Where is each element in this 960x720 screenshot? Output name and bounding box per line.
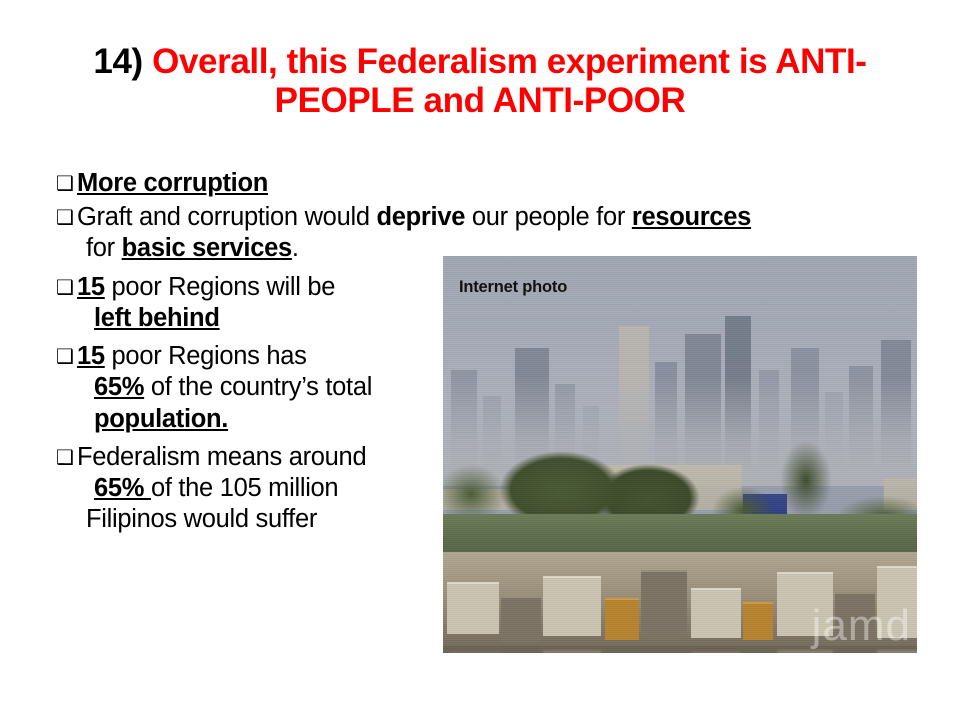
water-reflection	[543, 650, 601, 653]
bullet-text-part: for	[86, 234, 122, 262]
title-text-line2: PEOPLE and ANTI-POOR	[275, 81, 686, 120]
bullet-text-emphasis: deprive	[376, 203, 465, 231]
shanty-shack	[641, 570, 687, 636]
list-item-continuation: 65% of the 105 million	[56, 473, 456, 504]
bullet-text-part: Federalism means around	[77, 443, 366, 471]
photo-watermark: jamd	[812, 601, 911, 651]
list-item-continuation: population.	[56, 404, 456, 435]
bullet-text-emphasis: population.	[94, 405, 228, 433]
shanty-shack	[691, 588, 741, 638]
bullet-text-emphasis: 15	[77, 273, 105, 301]
bullet-text-emphasis: left behind	[94, 304, 220, 332]
bullet-text-part: Graft and corruption would	[77, 203, 376, 231]
shanty-shack	[605, 598, 639, 640]
list-item-continuation: left behind	[56, 303, 456, 334]
title-text-line1: Overall, this Federalism experiment is A…	[143, 42, 867, 81]
list-item-continuation: for basic services.	[56, 233, 456, 264]
photo-caption: Internet photo	[459, 278, 567, 297]
shanty-shack	[501, 596, 541, 642]
bullet-text-part: of the country’s total	[144, 373, 372, 401]
water-reflection	[449, 652, 501, 653]
bullet-text-part: poor Regions has	[105, 342, 307, 370]
bullet-text-part: our people for	[465, 203, 632, 231]
page-title: 14) Overall, this Federalism experiment …	[60, 42, 900, 120]
bullet-text-emphasis: 65%	[94, 474, 151, 502]
spacer	[56, 334, 456, 341]
bullet-text-emphasis: 65%	[94, 373, 144, 401]
shanty-shack	[543, 576, 601, 636]
list-item: ❑Federalism means around	[56, 442, 456, 473]
stray-dash-mark: -	[58, 452, 65, 474]
bullet-text-emphasis: basic services	[122, 234, 292, 262]
bullet-text-part: of the 105 million	[151, 474, 338, 502]
list-item: ❑Graft and corruption would deprive our …	[56, 202, 456, 233]
title-number: 14)	[93, 42, 142, 81]
list-item-continuation: Filipinos would suffer	[56, 504, 456, 535]
bullet-text-part: .	[292, 234, 299, 262]
checkbox-bullet-icon: ❑	[56, 344, 77, 369]
shanty-shack	[743, 602, 773, 640]
bullet-text: More corruption	[77, 169, 268, 197]
spacer	[56, 435, 456, 442]
checkbox-bullet-icon: ❑	[56, 205, 77, 230]
bullet-list: ❑More corruption ❑Graft and corruption w…	[56, 168, 456, 536]
water-reflection	[691, 652, 741, 653]
list-item: ❑15 poor Regions has	[56, 341, 456, 372]
slide-canvas: 14) Overall, this Federalism experiment …	[0, 0, 960, 720]
slide-photo: Internet photo jamd	[443, 256, 917, 653]
spacer	[56, 265, 456, 272]
list-item: ❑More corruption	[56, 168, 456, 199]
checkbox-bullet-icon: ❑	[56, 171, 77, 196]
list-item: ❑15 poor Regions will be	[56, 272, 456, 303]
bullet-text-emphasis: resources	[632, 203, 751, 231]
bullet-text-part: Filipinos would suffer	[86, 505, 317, 533]
shanty-shack	[447, 582, 499, 634]
bullet-text-part: poor Regions will be	[105, 273, 335, 301]
bullet-text-emphasis: 15	[77, 342, 105, 370]
list-item-continuation: 65% of the country’s total	[56, 372, 456, 403]
checkbox-bullet-icon: ❑	[56, 275, 77, 300]
